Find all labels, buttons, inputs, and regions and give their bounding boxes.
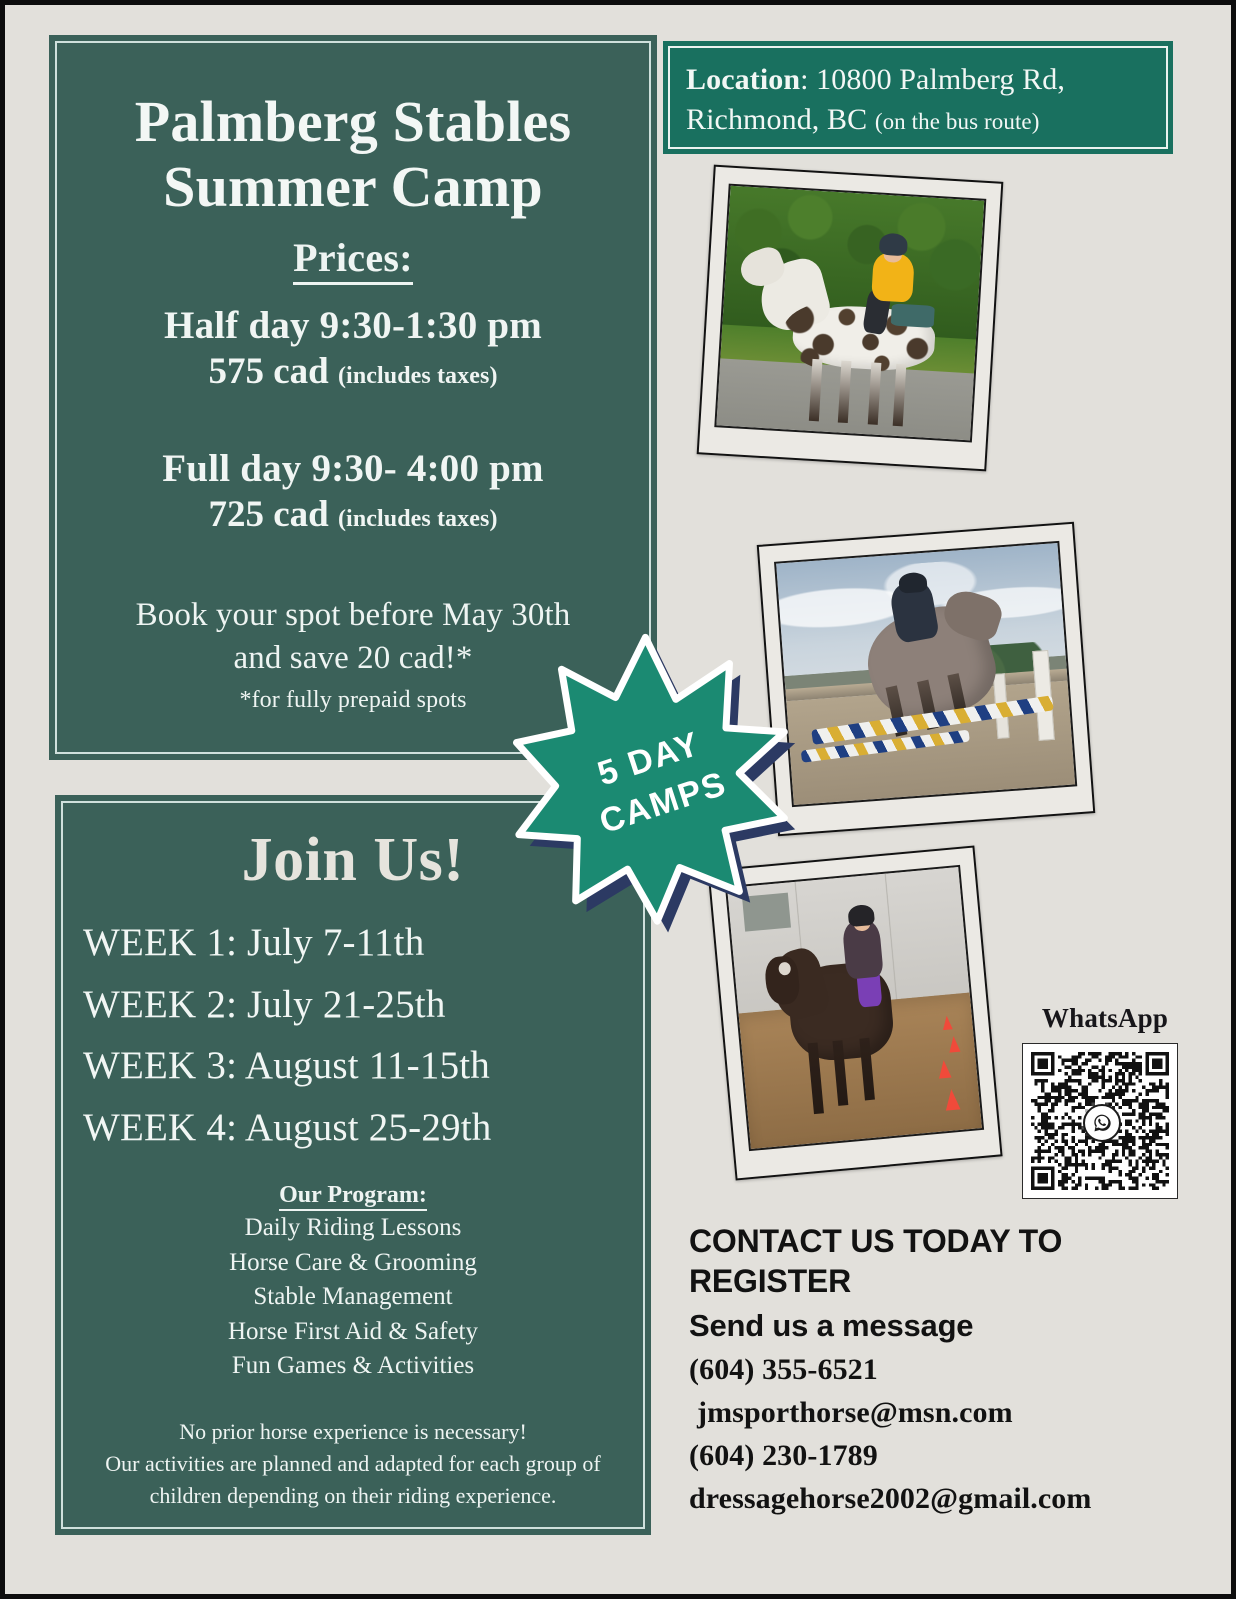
full-day-label: Full day 9:30- 4:00 pm (57, 446, 649, 492)
photo-2-rider-helmet (898, 572, 928, 593)
cone-icon (942, 1015, 953, 1030)
photo-horse-jumping-over-rail (757, 522, 1096, 837)
starburst-icon: 5 DAY CAMPS (505, 620, 805, 929)
flyer-page: Palmberg Stables Summer Camp Prices: Hal… (0, 0, 1236, 1599)
prices-heading: Prices: (57, 234, 649, 281)
week-list-item: WEEK 2: July 21-25th (83, 974, 643, 1036)
cone-icon (937, 1059, 951, 1078)
disclaimer-line-2: Our activities are planned and adapted f… (63, 1448, 643, 1480)
photo-3-rider-helmet (848, 904, 875, 927)
contact-phone-1[interactable]: (604) 355-6521 (689, 1353, 1159, 1387)
prices-heading-text: Prices: (293, 235, 413, 285)
flyer-title-line-2: Summer Camp (57, 156, 649, 219)
experience-disclaimer: No prior horse experience is necessary! … (63, 1416, 643, 1512)
week-list: WEEK 1: July 7-11th WEEK 2: July 21-25th… (63, 912, 643, 1158)
contact-heading-line-2: REGISTER (689, 1261, 1159, 1301)
photo-3-traffic-cones (902, 1009, 972, 1124)
program-list-item: Daily Riding Lessons (63, 1212, 643, 1244)
location-address-line-1: : 10800 Palmberg Rd, (800, 63, 1065, 96)
program-heading-text: Our Program: (279, 1182, 427, 1211)
program-list-item: Horse First Aid & Safety (63, 1316, 643, 1348)
week-list-item: WEEK 3: August 11-15th (83, 1035, 643, 1097)
location-bus-note: (on the bus route) (875, 109, 1040, 134)
contact-subheading: Send us a message (689, 1308, 1159, 1344)
whatsapp-label: WhatsApp (1025, 1003, 1185, 1034)
cone-icon (948, 1035, 961, 1052)
program-list-item: Fun Games & Activities (63, 1350, 643, 1382)
half-day-taxes-note: (includes taxes) (338, 363, 498, 389)
program-list-item: Stable Management (63, 1281, 643, 1313)
photo-1-rider-helmet (879, 233, 908, 256)
photo-1-image (714, 184, 986, 443)
flyer-title-line-1: Palmberg Stables (57, 91, 649, 154)
photo-3-horse-legs (802, 1037, 887, 1117)
location-address-line-2: Richmond, BC (686, 103, 875, 136)
contact-email-1[interactable]: jmsporthorse@msn.com (689, 1396, 1159, 1430)
contact-section: CONTACT US TODAY TO REGISTER Send us a m… (689, 1221, 1159, 1516)
photo-2-image (774, 541, 1077, 807)
half-day-amount-row: 575 cad (includes taxes) (57, 349, 649, 395)
whatsapp-icon (1083, 1104, 1121, 1142)
full-day-amount: 725 cad (208, 494, 328, 535)
disclaimer-line-3: children depending on their riding exper… (63, 1480, 643, 1512)
cone-icon (944, 1088, 961, 1110)
contact-email-2[interactable]: dressagehorse2002@gmail.com (689, 1482, 1159, 1516)
five-day-camps-starburst-badge: 5 DAY CAMPS (505, 620, 805, 929)
program-list-item: Horse Care & Grooming (63, 1247, 643, 1279)
promo-line-1: Book your spot before May 30th (57, 594, 649, 638)
program-section: Our Program: Daily Riding Lessons Horse … (63, 1182, 643, 1382)
full-day-amount-row: 725 cad (includes taxes) (57, 492, 649, 538)
half-day-price-block: Half day 9:30-1:30 pm 575 cad (includes … (57, 303, 649, 395)
half-day-amount: 575 cad (208, 351, 328, 392)
contact-heading-line-1: CONTACT US TODAY TO (689, 1221, 1159, 1261)
location-label: Location (686, 63, 800, 96)
full-day-price-block: Full day 9:30- 4:00 pm 725 cad (includes… (57, 446, 649, 538)
half-day-label: Half day 9:30-1:30 pm (57, 303, 649, 349)
full-day-taxes-note: (includes taxes) (338, 506, 498, 532)
photo-3-horse-blaze (778, 961, 791, 975)
location-text: Location: 10800 Palmberg Rd, Richmond, B… (668, 46, 1168, 149)
program-heading: Our Program: (63, 1182, 643, 1209)
photo-1-horse-legs (803, 359, 918, 428)
photo-child-riding-appaloosa-on-road (697, 165, 1004, 472)
week-list-item: WEEK 4: August 25-29th (83, 1097, 643, 1159)
contact-phone-2[interactable]: (604) 230-1789 (689, 1439, 1159, 1473)
location-box: Location: 10800 Palmberg Rd, Richmond, B… (663, 41, 1173, 154)
photo-1-saddle-pad (890, 303, 934, 327)
whatsapp-qr-code[interactable] (1022, 1043, 1178, 1199)
disclaimer-line-1: No prior horse experience is necessary! (63, 1416, 643, 1448)
whatsapp-glyph (1092, 1113, 1112, 1133)
